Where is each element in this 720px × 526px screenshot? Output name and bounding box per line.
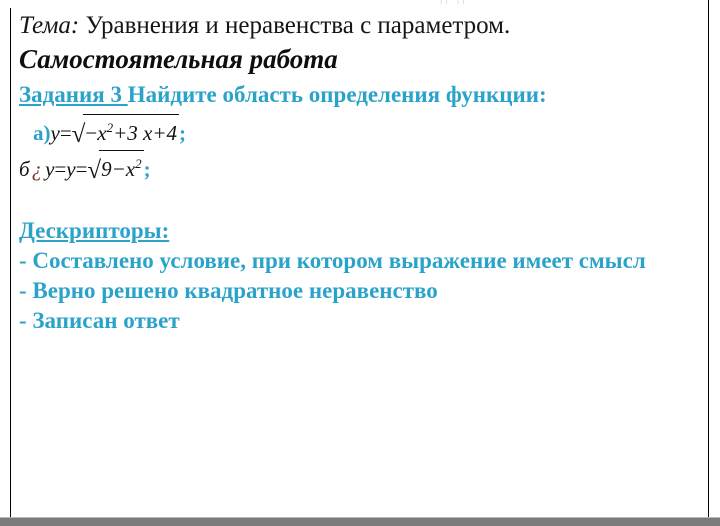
formula-a-tag: а) bbox=[33, 121, 51, 145]
formula-b-radicand: 9−x2 bbox=[99, 150, 144, 186]
formula-b-exponent: 2 bbox=[135, 156, 142, 171]
footer-gray-bar bbox=[0, 518, 720, 526]
formula-b-mid: y bbox=[66, 157, 75, 181]
formula-b-terminator: ; bbox=[144, 157, 151, 181]
formula-a-radicand-var: x bbox=[97, 121, 106, 145]
formula-b-radicand-expr: 9−x bbox=[101, 157, 135, 181]
left-border-rule bbox=[10, 8, 11, 518]
task-instruction: Найдите область определения функции: bbox=[128, 82, 547, 107]
formula-b: б¿y=y=√9−x2; bbox=[19, 150, 699, 186]
work-type-heading: Самостоятельная работа bbox=[19, 42, 699, 77]
formula-a-radicand-prefix: − bbox=[85, 121, 97, 145]
descriptor-item: - Записан ответ bbox=[19, 306, 683, 336]
descriptors-list: - Составлено условие, при котором выраже… bbox=[19, 246, 699, 336]
topic-line: Тема: Уравнения и неравенства с параметр… bbox=[19, 9, 699, 43]
slide-canvas: ꞌꞌ ꞌꞌ Тема: Уравнения и неравенства с па… bbox=[0, 0, 720, 526]
formula-a-radicand: −x2+3 x+4 bbox=[83, 114, 179, 150]
formula-b-equals: = bbox=[54, 157, 66, 181]
descriptor-item: - Составлено условие, при котором выраже… bbox=[19, 246, 683, 276]
formula-a: а)y=√−x2+3 x+4; bbox=[33, 114, 699, 150]
formula-a-equals: = bbox=[60, 121, 72, 145]
formula-b-equals-2: = bbox=[76, 157, 88, 181]
task-heading: Задания 3 Найдите область определения фу… bbox=[19, 81, 619, 108]
topic-label: Тема: bbox=[19, 12, 79, 39]
descriptors-heading: Дескрипторы: bbox=[19, 216, 169, 246]
task-number-label: Задания 3 bbox=[19, 82, 128, 107]
formula-a-terminator: ; bbox=[179, 121, 186, 145]
formula-a-radicand-tail: +3 x+4 bbox=[113, 121, 177, 145]
formula-b-tag: б bbox=[19, 157, 30, 181]
topic-text: Уравнения и неравенства с параметром. bbox=[86, 12, 511, 39]
clipped-text-sliver: ꞌꞌ ꞌꞌ bbox=[440, 0, 580, 9]
slide-content: Тема: Уравнения и неравенства с параметр… bbox=[19, 9, 699, 336]
descriptors-block: Дескрипторы: - Составлено условие, при к… bbox=[19, 216, 699, 336]
content-spacer bbox=[19, 186, 699, 216]
right-border-rule bbox=[708, 0, 709, 518]
formula-a-radical: √−x2+3 x+4 bbox=[72, 114, 179, 150]
formula-b-lhs: y bbox=[45, 157, 54, 181]
formula-b-radical: √9−x2 bbox=[87, 150, 143, 186]
formula-a-lhs: y bbox=[51, 121, 60, 145]
inverted-question-glyph-icon: ¿ bbox=[30, 157, 46, 181]
descriptor-item: - Верно решено квадратное неравенство bbox=[19, 276, 683, 306]
